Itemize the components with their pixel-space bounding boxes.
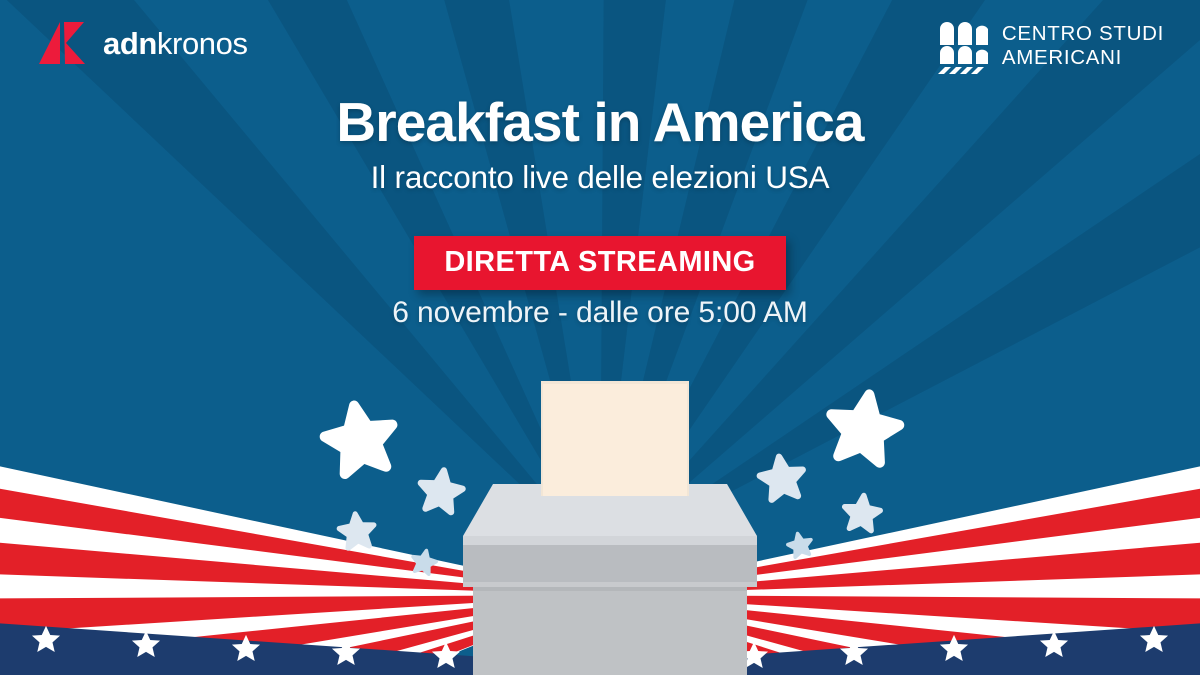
event-datetime: 6 novembre - dalle ore 5:00 AM (392, 296, 808, 329)
headline-block: Breakfast in America Il racconto live de… (0, 94, 1200, 195)
banner-wrap: DIRETTA STREAMING (0, 236, 1200, 290)
adnkronos-ak-monogram-icon (38, 20, 90, 66)
page-title: Breakfast in America (0, 94, 1200, 151)
promo-poster: adnkronos CENTRO (0, 0, 1200, 675)
adnkronos-logo[interactable]: adnkronos (38, 20, 248, 66)
centro-studi-americani-wordmark: CENTRO STUDI AMERICANI (1002, 22, 1164, 70)
centro-studi-americani-logo[interactable]: CENTRO STUDI AMERICANI (936, 18, 1164, 74)
csa-line-2: AMERICANI (1002, 46, 1164, 70)
datetime-wrap: 6 novembre - dalle ore 5:00 AM (0, 296, 1200, 330)
page-subtitle: Il racconto live delle elezioni USA (0, 160, 1200, 195)
diretta-streaming-badge[interactable]: DIRETTA STREAMING (414, 236, 785, 290)
adnkronos-wordmark-light: kronos (157, 26, 248, 61)
ballot-lid-edge (463, 545, 757, 587)
csa-line-1: CENTRO STUDI (1002, 22, 1164, 46)
adnkronos-wordmark: adnkronos (103, 28, 248, 59)
ballot-paper-front (541, 381, 689, 496)
ballot-box-body (473, 587, 747, 675)
centro-studi-americani-columns-icon (936, 18, 988, 74)
adnkronos-wordmark-bold: adn (103, 26, 157, 61)
